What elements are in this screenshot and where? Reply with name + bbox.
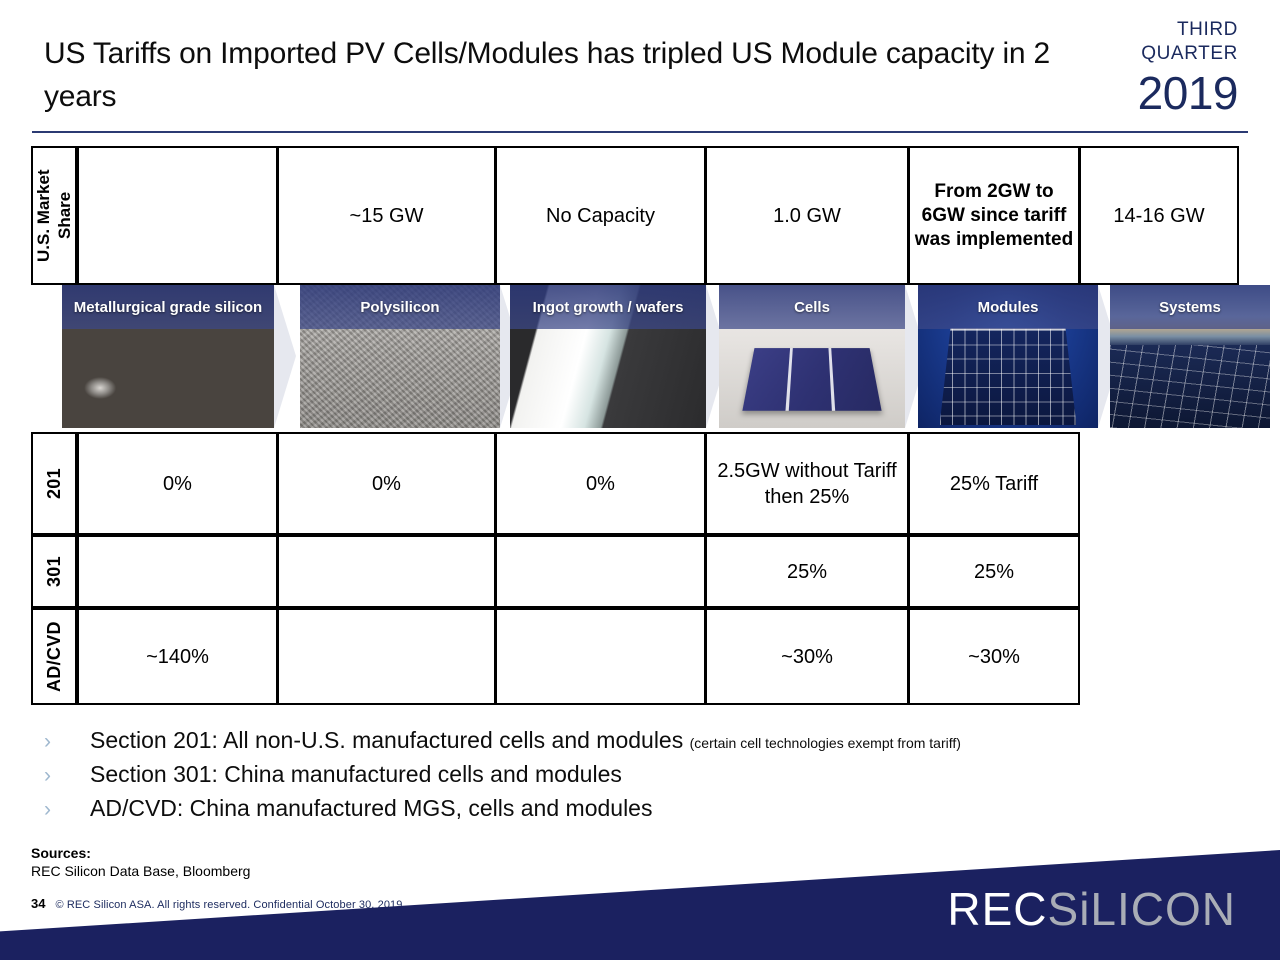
process-stage-label: Polysilicon xyxy=(300,285,500,329)
chevron-right-icon: › xyxy=(44,793,90,827)
bullet-text: Section 301: China manufactured cells an… xyxy=(90,757,622,791)
process-stage-cells: Cells xyxy=(719,285,905,428)
tariff-301-mgs xyxy=(77,535,278,608)
solar-module-graphic xyxy=(940,328,1077,425)
tariff-adcvd-modules: ~30% xyxy=(908,608,1080,705)
process-stage-label: Modules xyxy=(918,285,1098,329)
slide-header: US Tariffs on Imported PV Cells/Modules … xyxy=(0,0,1280,132)
sources-text: REC Silicon Data Base, Bloomberg xyxy=(31,862,250,880)
process-arrow-icon xyxy=(274,285,300,428)
tariff-301-polysilicon xyxy=(277,535,496,608)
list-item: › Section 301: China manufactured cells … xyxy=(44,757,1194,791)
quarter-label-line1: THIRD xyxy=(1138,18,1238,42)
page-number: 34 xyxy=(31,896,45,911)
sources-block: Sources: REC Silicon Data Base, Bloomber… xyxy=(31,844,250,880)
tariff-201-polysilicon: 0% xyxy=(277,432,496,535)
tariff-301-cells: 25% xyxy=(705,535,909,608)
capacity-cell-polysilicon: ~15 GW xyxy=(277,146,496,285)
tariff-adcvd-mgs: ~140% xyxy=(77,608,278,705)
quarter-label-line2: QUARTER xyxy=(1138,42,1238,66)
footer-line: 34 © REC Silicon ASA. All rights reserve… xyxy=(31,896,402,911)
process-stage-label: Metallurgical grade silicon xyxy=(62,285,274,329)
tariff-adcvd-cells: ~30% xyxy=(705,608,909,705)
tariff-201-ingot-wafers: 0% xyxy=(495,432,706,535)
tariff-201-mgs: 0% xyxy=(77,432,278,535)
page-title: US Tariffs on Imported PV Cells/Modules … xyxy=(44,32,1084,118)
process-stage-polysilicon: Polysilicon xyxy=(300,285,500,428)
list-item: › AD/CVD: China manufactured MGS, cells … xyxy=(44,791,1194,825)
rec-silicon-logo: RECSiLICON xyxy=(947,882,1236,936)
tariff-301-ingot-wafers xyxy=(495,535,706,608)
sources-label: Sources: xyxy=(31,844,250,862)
capacity-cell-ingot-wafers: No Capacity xyxy=(495,146,706,285)
bullet-note-text: (certain cell technologies exempt from t… xyxy=(690,735,961,751)
quarter-badge: THIRD QUARTER 2019 xyxy=(1138,18,1238,118)
capacity-cell-modules: From 2GW to 6GW since tariff was impleme… xyxy=(908,146,1080,285)
tariff-201-modules: 25% Tariff xyxy=(908,432,1080,535)
capacity-cell-cells: 1.0 GW xyxy=(705,146,909,285)
title-block: US Tariffs on Imported PV Cells/Modules … xyxy=(44,32,1084,118)
bullet-text: AD/CVD: China manufactured MGS, cells an… xyxy=(90,791,652,825)
bullet-main-text: Section 201: All non-U.S. manufactured c… xyxy=(90,727,683,753)
market-share-row-label: U.S. Market Share xyxy=(31,146,77,285)
process-stage-ingot-growth-wafers: Ingot growth / wafers xyxy=(510,285,706,428)
process-stage-modules: Modules xyxy=(918,285,1098,428)
process-stage-systems: Systems xyxy=(1110,285,1270,428)
tariff-301-modules: 25% xyxy=(908,535,1080,608)
tariff-row-label-201: 201 xyxy=(31,432,77,535)
quarter-year: 2019 xyxy=(1138,68,1238,118)
capacity-cell-systems: 14-16 GW xyxy=(1079,146,1239,285)
process-stage-metallurgical-grade-silicon: Metallurgical grade silicon xyxy=(62,285,274,428)
list-item: › Section 201: All non-U.S. manufactured… xyxy=(44,723,1194,757)
brand-secondary-text: SiLICON xyxy=(1048,883,1236,935)
bullet-main-text: Section 301: China manufactured cells an… xyxy=(90,761,622,787)
solar-farm-graphic xyxy=(1110,345,1270,428)
process-stage-label: Systems xyxy=(1110,285,1270,329)
bullet-list: › Section 201: All non-U.S. manufactured… xyxy=(44,723,1194,825)
chevron-right-icon: › xyxy=(44,725,90,759)
tariff-row-label-adcvd: AD/CVD xyxy=(31,608,77,705)
process-stage-label: Ingot growth / wafers xyxy=(510,285,706,329)
capacity-cell-mgs xyxy=(77,146,278,285)
brand-primary-text: REC xyxy=(947,883,1047,935)
bullet-text: Section 201: All non-U.S. manufactured c… xyxy=(90,723,961,760)
tariff-adcvd-polysilicon xyxy=(277,608,496,705)
process-stage-label: Cells xyxy=(719,285,905,329)
bullet-main-text: AD/CVD: China manufactured MGS, cells an… xyxy=(90,795,652,821)
chevron-right-icon: › xyxy=(44,759,90,793)
header-divider xyxy=(32,131,1248,133)
tariff-201-cells: 2.5GW without Tariff then 25% xyxy=(705,432,909,535)
tariff-adcvd-ingot-wafers xyxy=(495,608,706,705)
solar-cell-graphic xyxy=(742,348,882,410)
process-chain-strip: Metallurgical grade silicon Polysilicon … xyxy=(62,285,1248,428)
tariff-row-label-301: 301 xyxy=(31,535,77,608)
